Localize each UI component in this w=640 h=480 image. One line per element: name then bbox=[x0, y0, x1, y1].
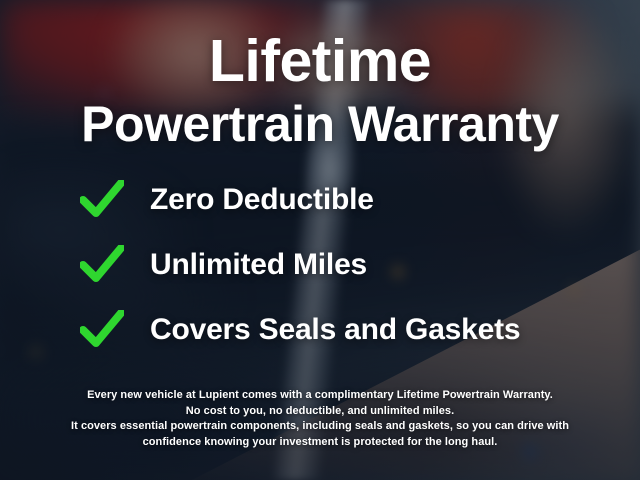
headline-line-2: Powertrain Warranty bbox=[0, 99, 640, 149]
lifetime-powertrain-warranty-banner: Lifetime Powertrain Warranty Zero Deduct… bbox=[0, 0, 640, 480]
body-copy-line: confidence knowing your investment is pr… bbox=[40, 435, 600, 451]
body-copy-line: No cost to you, no deductible, and unlim… bbox=[40, 404, 600, 420]
feature-item-covers-seals-and-gaskets: Covers Seals and Gaskets bbox=[80, 306, 580, 354]
feature-label: Covers Seals and Gaskets bbox=[150, 313, 520, 347]
green-check-icon bbox=[80, 245, 126, 285]
green-check-icon bbox=[80, 310, 126, 350]
feature-label: Zero Deductible bbox=[150, 183, 374, 217]
banner-content: Lifetime Powertrain Warranty Zero Deduct… bbox=[0, 0, 640, 480]
body-copy-line: It covers essential powertrain component… bbox=[40, 419, 600, 435]
headline-line-1: Lifetime bbox=[0, 32, 640, 91]
green-check-icon bbox=[80, 180, 126, 220]
feature-list: Zero Deductible Unlimited Miles Covers S… bbox=[80, 176, 580, 371]
body-copy: Every new vehicle at Lupient comes with … bbox=[40, 388, 600, 450]
feature-label: Unlimited Miles bbox=[150, 248, 367, 282]
feature-item-zero-deductible: Zero Deductible bbox=[80, 176, 580, 224]
feature-item-unlimited-miles: Unlimited Miles bbox=[80, 241, 580, 289]
body-copy-line: Every new vehicle at Lupient comes with … bbox=[40, 388, 600, 404]
headline: Lifetime Powertrain Warranty bbox=[0, 32, 640, 149]
